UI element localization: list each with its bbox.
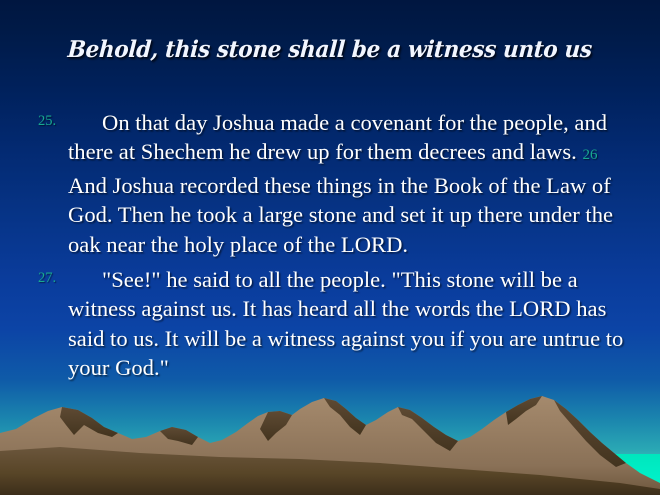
slide-title: Behold, this stone shall be a witness un… <box>0 36 660 63</box>
mountain-shadow-facet-2 <box>160 427 198 445</box>
list-item: 27. "See!" he said to all the people. "T… <box>0 265 660 383</box>
mountain-shadow-facet-4 <box>324 398 366 435</box>
list-item: 25. On that day Joshua made a covenant f… <box>0 108 660 259</box>
paragraph-text-part-2: And Joshua recorded these things in the … <box>68 173 613 257</box>
mountain-shadow-facet-3 <box>260 411 292 441</box>
slide-body: 25. On that day Joshua made a covenant f… <box>0 108 660 389</box>
paragraph-text-part-1: On that day Joshua made a covenant for t… <box>68 110 607 164</box>
mountain-shadow-facet-1 <box>60 407 118 437</box>
horizon-glow-band <box>0 454 660 495</box>
list-item-number: 25. <box>38 114 56 129</box>
inline-verse-number: 26 <box>582 147 597 163</box>
list-item-number: 27. <box>38 271 56 286</box>
slide-title-text: Behold, this stone shall be a witness un… <box>67 36 593 63</box>
mountain-shadow-facet-5 <box>398 407 458 451</box>
mountain-shadow-facet-6 <box>506 396 542 425</box>
presentation-slide: Behold, this stone shall be a witness un… <box>0 0 660 495</box>
paragraph-text-part-1: "See!" he said to all the people. "This … <box>68 267 623 380</box>
